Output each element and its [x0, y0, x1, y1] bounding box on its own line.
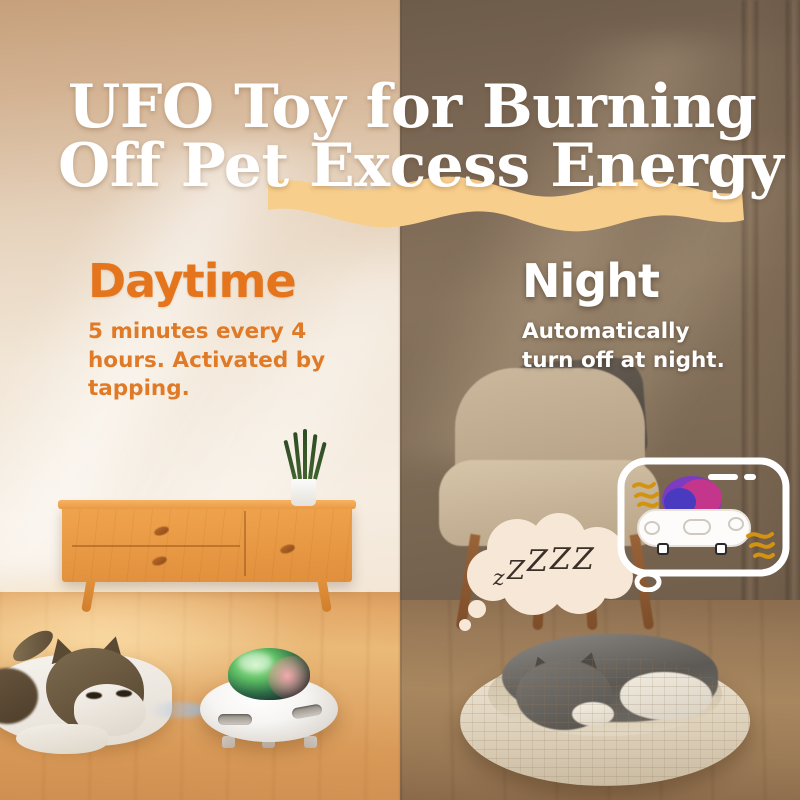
plant-pot	[291, 479, 316, 506]
zzz-text-large: Z	[549, 542, 572, 577]
inset-highlight-dash	[708, 474, 738, 480]
toy-dome-pink-glow	[268, 656, 310, 700]
daytime-text-column: Daytime 5 minutes every 4 hours. Activat…	[88, 258, 338, 404]
inset-highlight-dot	[744, 474, 756, 480]
toy-slot-opening	[291, 703, 322, 719]
daytime-description: 5 minutes every 4 hours. Activated by ta…	[88, 318, 338, 404]
toy-light-dome	[228, 648, 310, 700]
night-text-column: Night Automatically turn off at night.	[522, 258, 742, 375]
snake-plant	[285, 437, 321, 507]
night-title: Night	[522, 258, 742, 304]
zzz-text-large: Z	[526, 544, 549, 579]
daytime-cat	[0, 632, 232, 762]
toy-foot	[304, 736, 317, 748]
toy-slot-opening	[218, 714, 252, 725]
zzz-text-mid: Z	[506, 556, 526, 586]
cat-eye	[86, 692, 102, 699]
woven-cat-bed	[460, 618, 750, 793]
toy-off-inset-doodle	[612, 452, 800, 592]
cat-eye	[116, 690, 132, 697]
sideboard-leg	[317, 577, 332, 612]
night-description: Automatically turn off at night.	[522, 318, 742, 375]
inset-toy-foot	[658, 544, 668, 554]
product-marketing-image: UFO Toy for Burning Off Pet Excess Energ…	[0, 0, 800, 800]
sideboard-vertical-divider	[244, 511, 246, 576]
sideboard-body	[62, 505, 352, 582]
inset-toy-foot	[716, 544, 726, 554]
toy-foot	[222, 736, 235, 748]
zzz-text-large: Z	[572, 542, 595, 577]
plant-leaf	[303, 429, 307, 479]
inset-toy-body	[638, 510, 750, 546]
cat-paw	[16, 724, 108, 754]
feather-wand-attachment	[150, 702, 206, 718]
inset-spark-left	[634, 484, 657, 506]
page-headline: UFO Toy for Burning Off Pet Excess Energ…	[0, 78, 800, 196]
cat-bed-weave-texture	[460, 656, 750, 786]
daytime-title: Daytime	[88, 258, 338, 304]
zzz-text-small: z	[492, 566, 505, 591]
toy-dome-highlight	[238, 652, 272, 672]
inset-spark-right	[748, 534, 773, 557]
ufo-cat-toy	[200, 640, 338, 750]
sideboard-wood-grain	[62, 505, 352, 582]
headline-line-2: Off Pet Excess Energy	[0, 137, 800, 196]
inset-bubble-tail-large	[637, 574, 659, 590]
sideboard-leg	[81, 577, 96, 612]
sideboard-horizontal-divider	[72, 545, 240, 547]
headline-line-1: UFO Toy for Burning	[0, 78, 800, 137]
wooden-sideboard	[62, 505, 352, 610]
